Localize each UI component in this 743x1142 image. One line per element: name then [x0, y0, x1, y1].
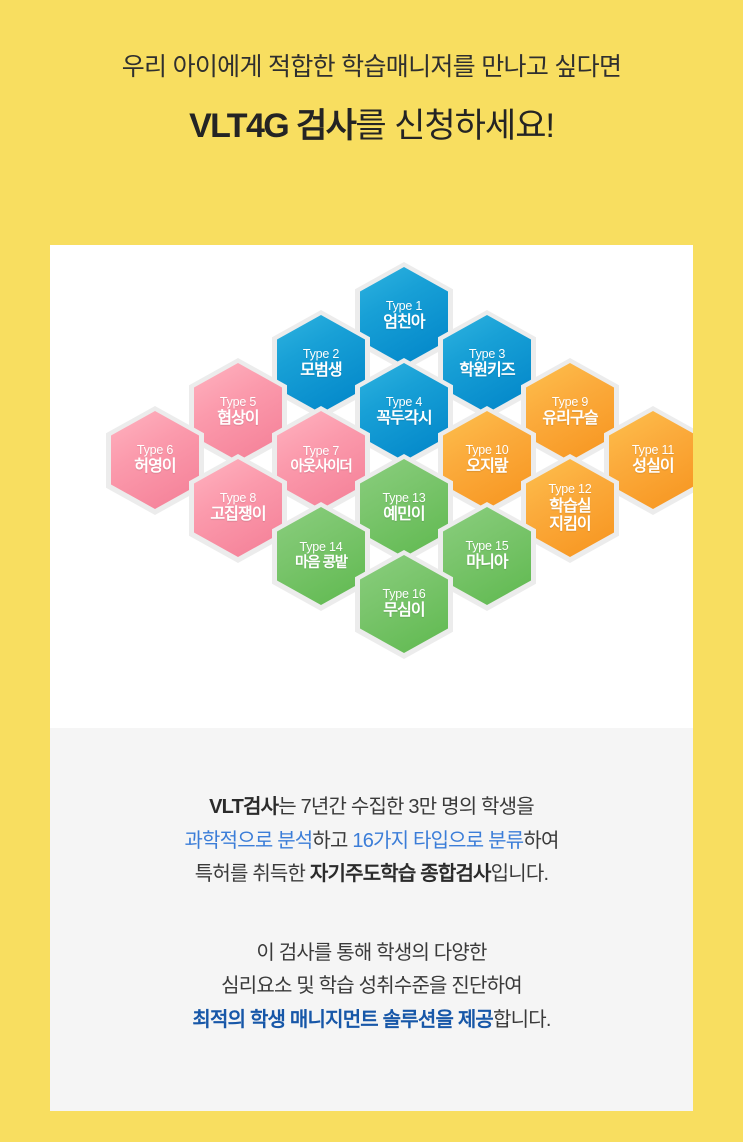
type-hex-diagram: Type 1엄친아Type 2모범생Type 3학원키즈Type 4꼭두각시Ty…	[50, 245, 693, 728]
desc-p1-s6: 하여	[523, 830, 558, 852]
page-header: 우리 아이에게 적합한 학습매니저를 만나고 싶다면 VLT4G 검사를 신청하…	[0, 0, 743, 147]
hex-type-name-1: 엄친아	[383, 315, 424, 332]
desc-p1-s2: 는 7년간 수집한 3만 명의 학생을	[278, 796, 534, 818]
hex-type-name-13: 예민이	[383, 507, 424, 524]
hex-type-name-15: 마니아	[466, 555, 507, 572]
hex-type-name-12: 학습실지킴이	[549, 498, 590, 533]
hex-type-name-7: 아웃사이더	[290, 460, 351, 475]
hex-type-label-1: Type 1	[386, 300, 422, 313]
hex-type-label-11: Type 11	[632, 444, 674, 457]
desc-p2-s2: 심리요소 및 학습 성취수준을 진단하여	[221, 975, 522, 997]
hex-type-label-14: Type 14	[299, 541, 342, 554]
desc-p2-s3: 최적의 학생 매니지먼트 솔루션을 제공	[192, 1009, 493, 1031]
desc-p1-s8: 자기주도학습 종합검사	[310, 863, 491, 885]
hex-type-label-5: Type 5	[220, 396, 256, 409]
hex-type-label-4: Type 4	[386, 396, 422, 409]
hex-type-name-4: 꼭두각시	[376, 411, 431, 428]
desc-p1-s9: 입니다.	[491, 863, 549, 885]
hex-type-name-16: 무심이	[383, 603, 424, 620]
hex-type-name-2: 모범생	[300, 363, 341, 380]
desc-p1-s5: 16가지 타입으로 분류	[352, 830, 523, 852]
hex-type-name-3: 학원키즈	[459, 363, 514, 380]
desc-p1-s3: 과학적으로 분석	[184, 830, 312, 852]
desc-p1-s4: 하고	[312, 830, 352, 852]
header-subtitle: 우리 아이에게 적합한 학습매니저를 만나고 싶다면	[0, 52, 743, 82]
hex-type-label-9: Type 9	[552, 396, 588, 409]
page-title-normal: 를 신청하세요!	[355, 107, 554, 145]
hex-type-label-13: Type 13	[382, 492, 425, 505]
desc-p1-s7: 특허를 취득한	[195, 863, 310, 885]
description-panel: VLT검사는 7년간 수집한 3만 명의 학생을 과학적으로 분석하고 16가지…	[50, 728, 693, 1111]
hex-type-name-10: 오지랖	[466, 459, 507, 476]
hex-type-name-9: 유리구슬	[542, 411, 597, 428]
hex-type-label-6: Type 6	[137, 444, 173, 457]
hex-type-name-14: 마음 콩밭	[295, 556, 347, 571]
hex-type-label-16: Type 16	[382, 588, 425, 601]
hex-type-label-7: Type 7	[303, 445, 339, 458]
description-paragraph-1: VLT검사는 7년간 수집한 3만 명의 학생을 과학적으로 분석하고 16가지…	[50, 791, 693, 892]
hex-type-name-5: 협상이	[217, 411, 258, 428]
hex-type-name-8: 고집쟁이	[210, 507, 265, 524]
desc-p2-s1: 이 검사를 통해 학생의 다양한	[256, 942, 486, 964]
content-card: Type 1엄친아Type 2모범생Type 3학원키즈Type 4꼭두각시Ty…	[50, 245, 693, 1111]
hex-type-label-2: Type 2	[303, 348, 339, 361]
hex-type-label-8: Type 8	[220, 492, 256, 505]
page-title: VLT4G 검사를 신청하세요!	[0, 106, 743, 147]
desc-p1-s1: VLT검사	[209, 796, 278, 818]
hex-type-label-15: Type 15	[465, 540, 508, 553]
page-title-strong: VLT4G 검사	[189, 107, 355, 145]
hex-type-label-3: Type 3	[469, 348, 505, 361]
hex-type-name-6: 허영이	[134, 459, 175, 476]
hex-type-label-10: Type 10	[465, 444, 508, 457]
hex-type-name-11: 성실이	[632, 459, 673, 476]
desc-p2-s4: 합니다.	[493, 1009, 551, 1031]
hex-type-label-12: Type 12	[548, 483, 591, 496]
description-paragraph-2: 이 검사를 통해 학생의 다양한 심리요소 및 학습 성취수준을 진단하여 최적…	[50, 937, 693, 1038]
